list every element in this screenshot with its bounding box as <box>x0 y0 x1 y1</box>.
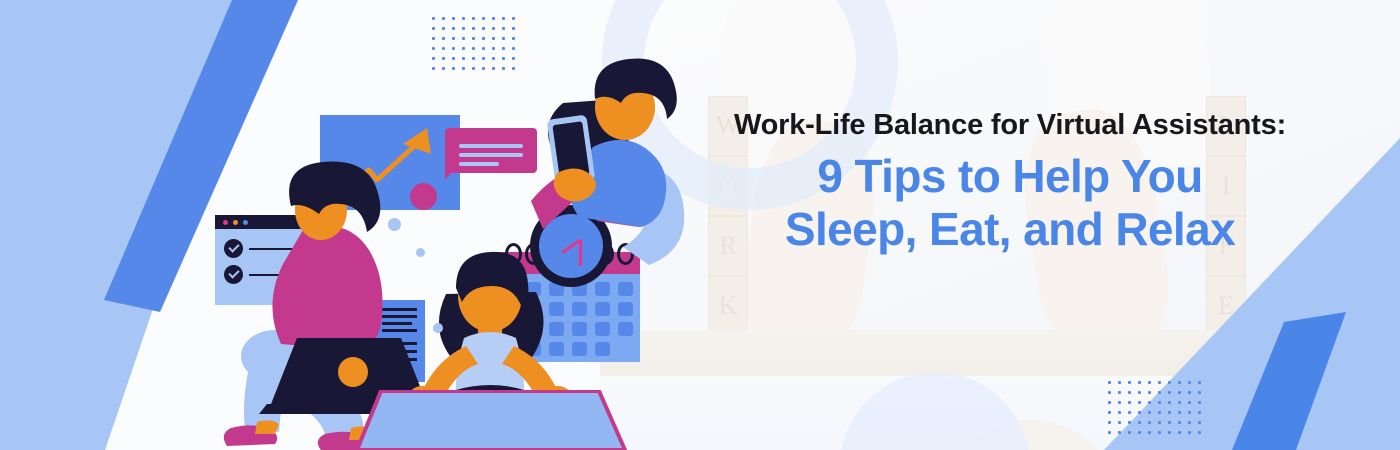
yoga-mat-border <box>355 390 627 450</box>
accent-dot-blue-3 <box>416 248 425 257</box>
kicker-text: Work-Life Balance for Virtual Assistants… <box>676 108 1344 142</box>
dot-grid-bottom-right <box>1108 381 1208 441</box>
blog-hero-banner: W O R K L I F E <box>0 0 1400 450</box>
headline-line-2: Sleep, Eat, and Relax <box>676 203 1344 255</box>
headline-block: Work-Life Balance for Virtual Assistants… <box>676 108 1344 255</box>
accent-dot-pink <box>410 183 437 210</box>
figure-woman-on-phone <box>475 55 705 270</box>
letter-block-k: K <box>708 276 748 336</box>
hero-illustration <box>195 0 675 450</box>
page-title: 9 Tips to Help You Sleep, Eat, and Relax <box>676 150 1344 255</box>
accent-dot-blue-1 <box>388 218 401 231</box>
accent-dot-blue-2 <box>433 323 443 333</box>
headline-line-1: 9 Tips to Help You <box>676 150 1344 202</box>
